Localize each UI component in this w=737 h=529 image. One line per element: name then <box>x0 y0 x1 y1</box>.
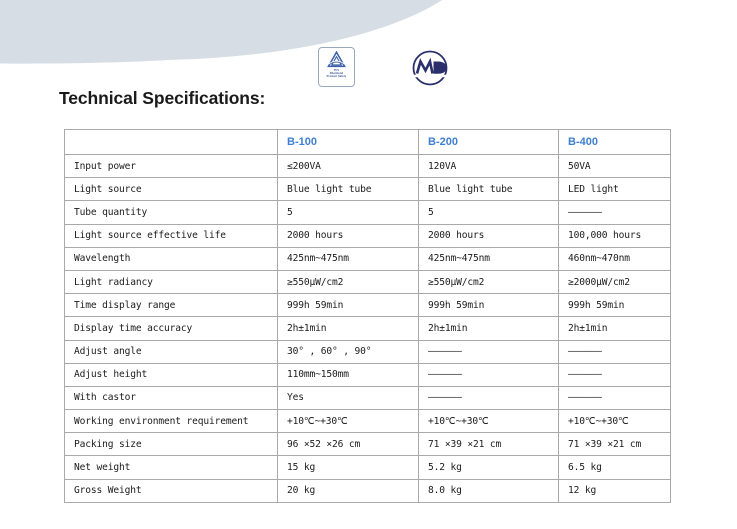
cell-b100: ≤200VA <box>278 155 419 178</box>
cell-b400: LED light <box>559 178 671 201</box>
cell-b400: 2h±1min <box>559 317 671 340</box>
tuv-rheinland-logo: TÜV Rheinland Product Safety <box>318 47 355 87</box>
cell-b200: 5 <box>419 201 559 224</box>
cell-b200: ≥550μW/cm2 <box>419 270 559 293</box>
cell-b400: —————— <box>559 386 671 409</box>
cell-b200: 999h 59min <box>419 294 559 317</box>
row-label: Adjust height <box>65 363 278 386</box>
table-row: Gross Weight20 kg8.0 kg12 kg <box>65 479 671 502</box>
cell-b200: 71 ×39 ×21 cm <box>419 433 559 456</box>
row-label: Wavelength <box>65 247 278 270</box>
cell-b200: —————— <box>419 363 559 386</box>
cell-b400: ≥2000μW/cm2 <box>559 270 671 293</box>
cell-b200: 2h±1min <box>419 317 559 340</box>
cell-b400: 6.5 kg <box>559 456 671 479</box>
page-title: Technical Specifications: <box>59 88 265 109</box>
cell-b200: Blue light tube <box>419 178 559 201</box>
table-row: Display time accuracy2h±1min2h±1min2h±1m… <box>65 317 671 340</box>
technical-specifications-table: B-100 B-200 B-400 Input power≤200VA120VA… <box>64 129 670 503</box>
cell-b200: +10℃~+30℃ <box>419 410 559 433</box>
cell-b100: ≥550μW/cm2 <box>278 270 419 293</box>
table-row: Light sourceBlue light tubeBlue light tu… <box>65 178 671 201</box>
cell-b400: 50VA <box>559 155 671 178</box>
row-label: Adjust angle <box>65 340 278 363</box>
md-certification-logo <box>407 49 453 87</box>
row-label: Working environment requirement <box>65 410 278 433</box>
cell-b100: 2000 hours <box>278 224 419 247</box>
column-header-b100: B-100 <box>278 130 419 155</box>
cell-b200: 8.0 kg <box>419 479 559 502</box>
table-row: Net weight15 kg5.2 kg6.5 kg <box>65 456 671 479</box>
tuv-logo-caption: TÜV Rheinland Product Safety <box>327 69 347 78</box>
table-row: Adjust angle30° , 60° , 90°———————————— <box>65 340 671 363</box>
cell-b400: 100,000 hours <box>559 224 671 247</box>
table-row: Light source effective life2000 hours200… <box>65 224 671 247</box>
cell-b100: 425nm~475nm <box>278 247 419 270</box>
cell-b400: —————— <box>559 340 671 363</box>
cell-b200: 5.2 kg <box>419 456 559 479</box>
cell-b100: 999h 59min <box>278 294 419 317</box>
cell-b100: 20 kg <box>278 479 419 502</box>
row-label: Light source effective life <box>65 224 278 247</box>
row-label: Light radiancy <box>65 270 278 293</box>
cell-b200: 120VA <box>419 155 559 178</box>
cell-b200: 2000 hours <box>419 224 559 247</box>
column-header-b200: B-200 <box>419 130 559 155</box>
table-row: With castorYes———————————— <box>65 386 671 409</box>
cell-b400: 460nm~470nm <box>559 247 671 270</box>
spec-table: B-100 B-200 B-400 Input power≤200VA120VA… <box>64 129 671 503</box>
certification-logos: TÜV Rheinland Product Safety <box>310 47 480 93</box>
cell-b400: —————— <box>559 201 671 224</box>
cell-b400: 71 ×39 ×21 cm <box>559 433 671 456</box>
cell-b200: —————— <box>419 386 559 409</box>
md-logo-icon <box>407 49 453 87</box>
row-label: Input power <box>65 155 278 178</box>
row-label: Display time accuracy <box>65 317 278 340</box>
cell-b400: —————— <box>559 363 671 386</box>
cell-b100: 15 kg <box>278 456 419 479</box>
row-label: Time display range <box>65 294 278 317</box>
table-row: Input power≤200VA120VA50VA <box>65 155 671 178</box>
cell-b100: Yes <box>278 386 419 409</box>
cell-b100: 5 <box>278 201 419 224</box>
row-label: Net weight <box>65 456 278 479</box>
row-label: Tube quantity <box>65 201 278 224</box>
cell-b200: —————— <box>419 340 559 363</box>
table-row: Working environment requirement+10℃~+30℃… <box>65 410 671 433</box>
row-label: With castor <box>65 386 278 409</box>
cell-b100: 2h±1min <box>278 317 419 340</box>
row-label: Light source <box>65 178 278 201</box>
cell-b400: 12 kg <box>559 479 671 502</box>
cell-b200: 425nm~475nm <box>419 247 559 270</box>
cell-b100: 30° , 60° , 90° <box>278 340 419 363</box>
table-row: Packing size96 ×52 ×26 cm71 ×39 ×21 cm71… <box>65 433 671 456</box>
row-label: Packing size <box>65 433 278 456</box>
table-row: Adjust height110mm~150mm———————————— <box>65 363 671 386</box>
column-header-b400: B-400 <box>559 130 671 155</box>
cell-b100: +10℃~+30℃ <box>278 410 419 433</box>
tuv-caption-line-3: Product Safety <box>327 75 347 78</box>
cell-b100: 110mm~150mm <box>278 363 419 386</box>
table-row: Tube quantity55—————— <box>65 201 671 224</box>
cell-b100: 96 ×52 ×26 cm <box>278 433 419 456</box>
row-label: Gross Weight <box>65 479 278 502</box>
table-row: Light radiancy≥550μW/cm2≥550μW/cm2≥2000μ… <box>65 270 671 293</box>
table-row: Time display range999h 59min999h 59min99… <box>65 294 671 317</box>
table-header-row: B-100 B-200 B-400 <box>65 130 671 155</box>
table-row: Wavelength425nm~475nm425nm~475nm460nm~47… <box>65 247 671 270</box>
tuv-triangle-icon <box>327 51 346 68</box>
cell-b400: 999h 59min <box>559 294 671 317</box>
cell-b400: +10℃~+30℃ <box>559 410 671 433</box>
column-header-spec <box>65 130 278 155</box>
cell-b100: Blue light tube <box>278 178 419 201</box>
